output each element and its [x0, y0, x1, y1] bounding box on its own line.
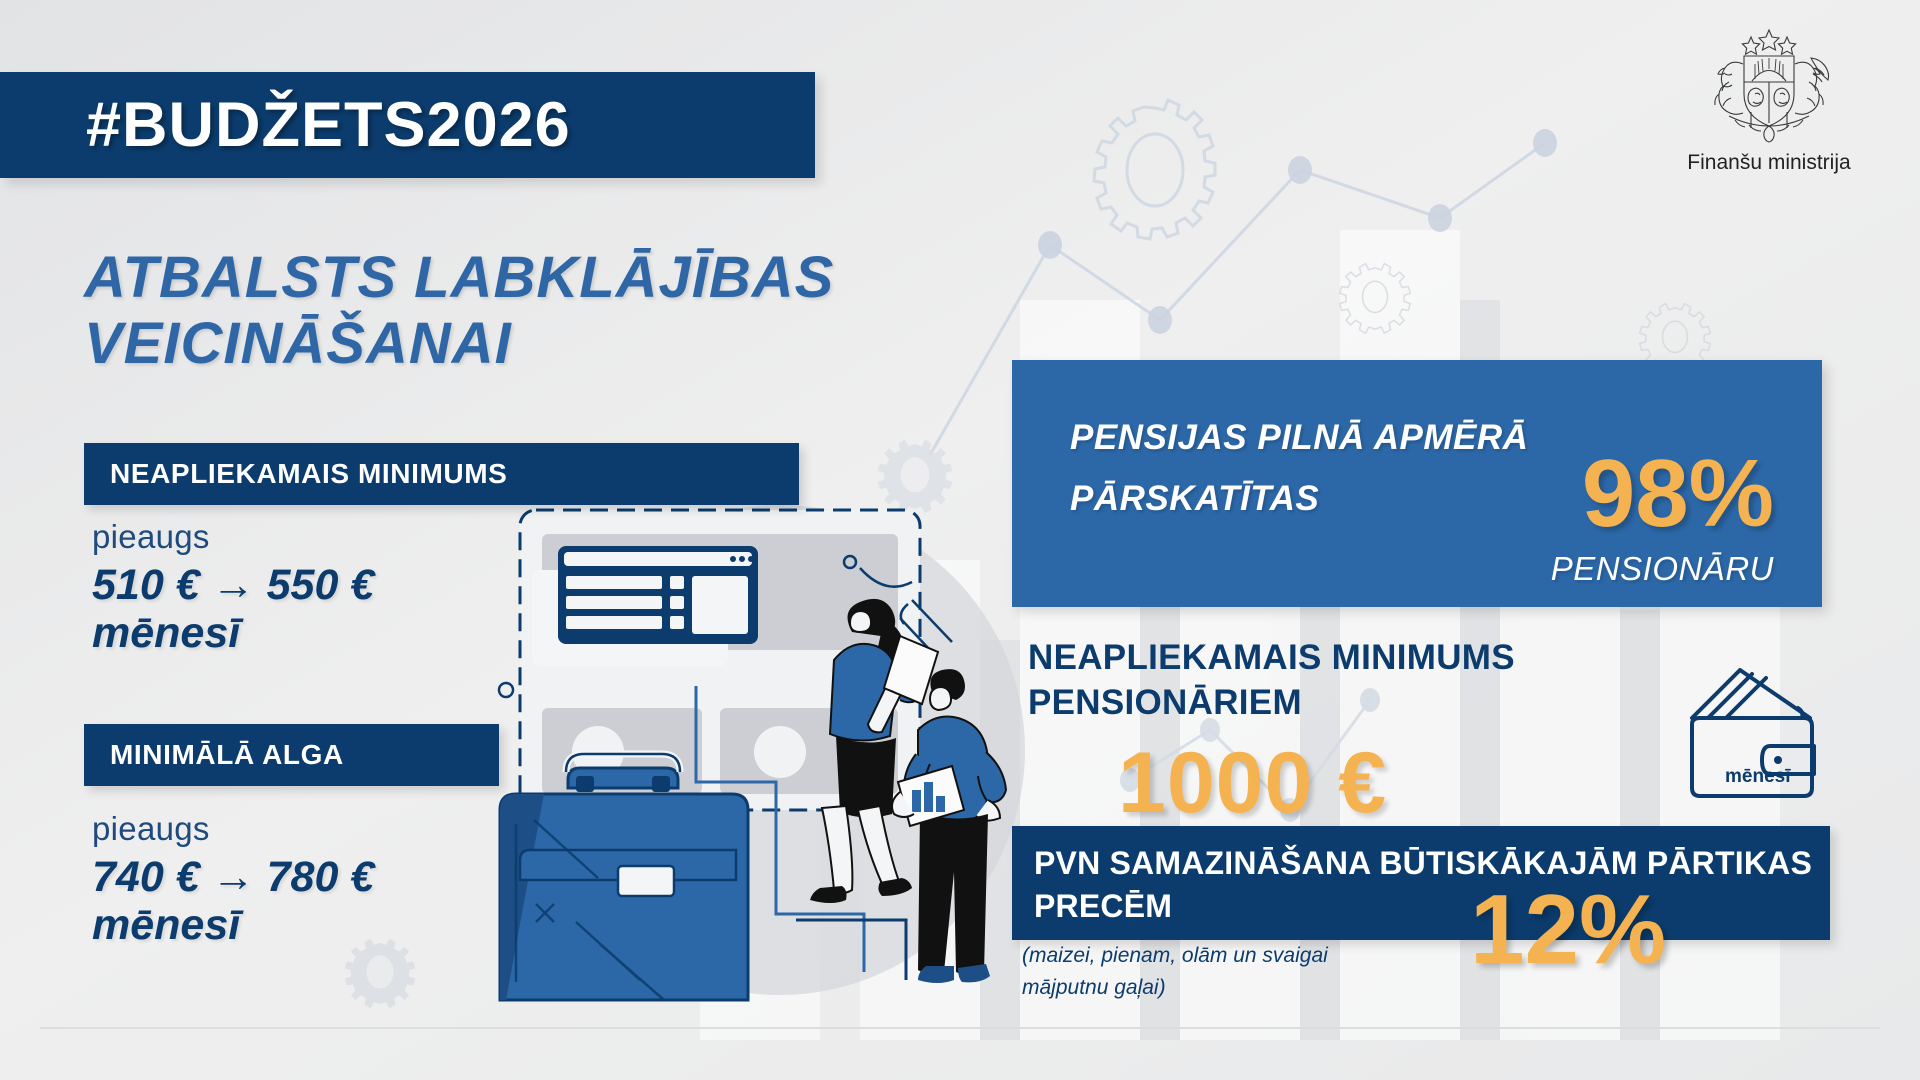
hashtag-banner: #BUDŽETS2026	[0, 72, 815, 178]
metric-value-to: 550 €	[267, 561, 375, 609]
vat-title: PVN SAMAZINĀŠANA BŪTISKĀKAJĀM PĀRTIKAS P…	[1034, 842, 1824, 927]
metric-heading-minimala-alga: MINIMĀLĀ ALGA	[84, 724, 499, 786]
wallet-period-label: mēnesī	[1725, 766, 1790, 788]
pensioner-minimum-block: NEAPLIEKAMAIS MINIMUMS PENSIONĀRIEM 1000…	[1028, 636, 1828, 726]
metric-period: mēnesī	[92, 901, 374, 949]
people-dashboard-briefcase-illustration	[480, 500, 1040, 1020]
arrow-right-icon: →	[212, 853, 255, 901]
metric-body-neapliekamais-minimums: pieaugs 510 €→550 € mēnesī	[92, 518, 374, 657]
gear-icon-large	[1094, 100, 1215, 239]
metric-value-from: 740 €	[92, 853, 200, 901]
pensioner-minimum-title: NEAPLIEKAMAIS MINIMUMS PENSIONĀRIEM	[1028, 636, 1668, 726]
pensions-percent-label: PENSIONĀRU	[1551, 550, 1774, 588]
metric-value-to: 780 €	[267, 853, 375, 901]
ministry-logo: Finanšu ministrija	[1654, 24, 1884, 175]
page-title: ATBALSTS LABKLĀJĪBAS VEICINĀŠANAI	[84, 245, 1014, 376]
metric-body-minimala-alga: pieaugs 740 €→780 € mēnesī	[92, 810, 374, 949]
pensions-percent: 98%	[1582, 446, 1774, 542]
vat-note: (maizei, pienam, olām un svaigai mājputn…	[1022, 940, 1372, 1003]
pensions-panel: PENSIJAS PILNĀ APMĒRĀ PĀRSKATĪTAS 98% PE…	[1012, 360, 1822, 607]
wallet-icon: mēnesī	[1678, 662, 1828, 812]
metric-value-row: 740 €→780 €	[92, 853, 374, 901]
latvia-coat-of-arms-icon	[1689, 24, 1849, 144]
metric-heading-neapliekamais-minimums: NEAPLIEKAMAIS MINIMUMS	[84, 443, 799, 505]
hashtag-text: #BUDŽETS2026	[86, 89, 571, 161]
logo-caption: Finanšu ministrija	[1654, 151, 1884, 175]
wallet-glyph	[1678, 662, 1828, 812]
vat-panel: PVN SAMAZINĀŠANA BŪTISKĀKAJĀM PĀRTIKAS P…	[1012, 826, 1830, 940]
metric-heading-label: NEAPLIEKAMAIS MINIMUMS	[110, 458, 507, 490]
pensioner-minimum-amount: 1000 €	[1118, 740, 1387, 826]
metric-value-from: 510 €	[92, 561, 200, 609]
arrow-right-icon: →	[212, 561, 255, 609]
metric-heading-label: MINIMĀLĀ ALGA	[110, 739, 344, 771]
metric-sub-label: pieaugs	[92, 518, 374, 556]
vat-percent: 12%	[1470, 880, 1666, 978]
metric-sub-label: pieaugs	[92, 810, 374, 848]
metric-period: mēnesī	[92, 609, 374, 657]
gear-icon-medium	[1340, 264, 1411, 334]
metric-value-row: 510 €→550 €	[92, 561, 374, 609]
bg-line-chart-nodes	[1038, 129, 1557, 334]
